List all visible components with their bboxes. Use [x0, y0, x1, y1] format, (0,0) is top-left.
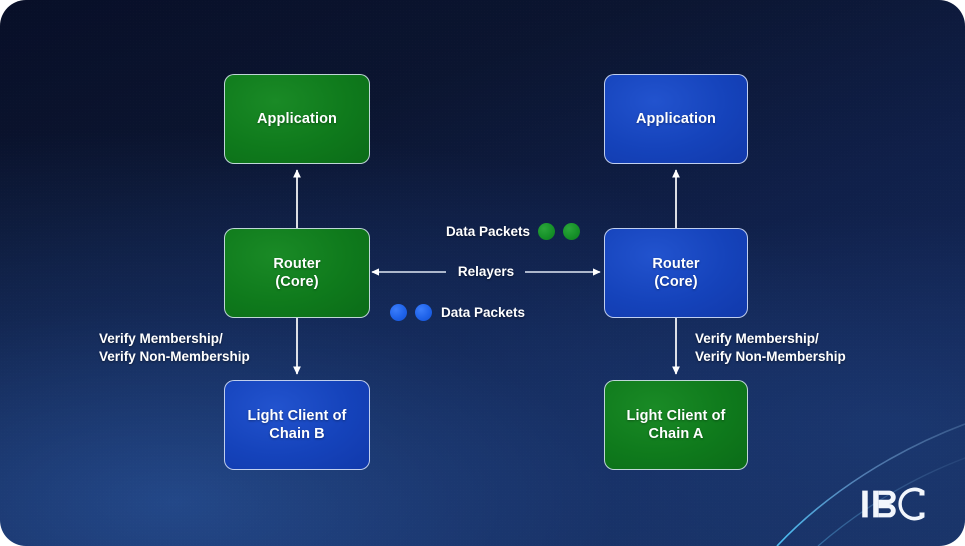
- node-lightclient-left-label: Light Client of Chain B: [248, 407, 347, 443]
- node-router-right[interactable]: Router (Core): [604, 228, 748, 318]
- ibc-logo: [861, 484, 939, 524]
- label-relayers: Relayers: [446, 263, 526, 281]
- node-router-left-label: Router (Core): [273, 255, 320, 291]
- node-router-left[interactable]: Router (Core): [224, 228, 370, 318]
- node-router-right-label: Router (Core): [652, 255, 699, 291]
- node-app-right[interactable]: Application: [604, 74, 748, 164]
- node-app-left-label: Application: [257, 110, 337, 128]
- diagram-canvas: Application Router (Core) Light Client o…: [0, 0, 965, 546]
- label-verify-left: Verify Membership/ Verify Non-Membership: [99, 330, 319, 366]
- packet-dot-blue-1: [390, 304, 407, 321]
- node-app-right-label: Application: [636, 110, 716, 128]
- node-lightclient-right[interactable]: Light Client of Chain A: [604, 380, 748, 470]
- label-data-packets-top: Data Packets: [365, 223, 530, 241]
- packet-dot-blue-2: [415, 304, 432, 321]
- packet-dot-green-1: [538, 223, 555, 240]
- label-verify-right: Verify Membership/ Verify Non-Membership: [695, 330, 925, 366]
- node-app-left[interactable]: Application: [224, 74, 370, 164]
- data-packets-bottom-dots: [390, 304, 432, 321]
- packet-dot-green-2: [563, 223, 580, 240]
- node-lightclient-left[interactable]: Light Client of Chain B: [224, 380, 370, 470]
- label-data-packets-bottom: Data Packets: [441, 304, 611, 322]
- node-lightclient-right-label: Light Client of Chain A: [627, 407, 726, 443]
- data-packets-top-dots: [538, 223, 580, 240]
